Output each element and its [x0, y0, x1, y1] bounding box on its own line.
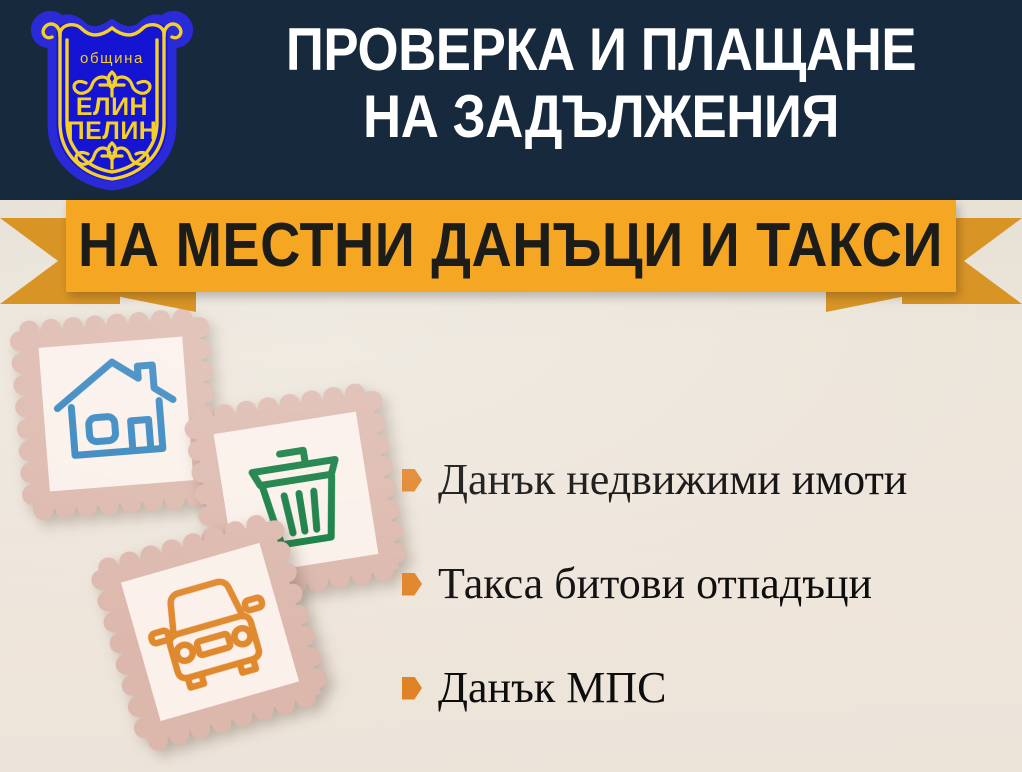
ribbon-subtitle: НА МЕСТНИ ДАНЪЦИ И ТАКСИ	[79, 215, 944, 277]
ribbon-face: НА МЕСТНИ ДАНЪЦИ И ТАКСИ	[66, 200, 956, 292]
municipality-crest-logo: община ЕЛИН ПЕЛИН	[26, 6, 198, 192]
list-item[interactable]: Такса битови отпадъци	[402, 532, 1012, 636]
list-item-label: Данък недвижими имоти	[438, 458, 907, 502]
arrow-bullet-icon	[402, 573, 422, 596]
stamp-paper	[39, 337, 194, 492]
arrow-bullet-icon	[402, 469, 422, 492]
ribbon-banner: НА МЕСТНИ ДАНЪЦИ И ТАКСИ	[0, 196, 1022, 312]
list-item[interactable]: Данък недвижими имоти	[402, 428, 1012, 532]
crest-name-line2: ПЕЛИН	[67, 117, 158, 145]
list-item[interactable]: Данък МПС	[402, 636, 1012, 740]
page-title: ПРОВЕРКА И ПЛАЩАНЕ НА ЗАДЪЛЖЕНИЯ	[245, 16, 958, 150]
header-bar: община ЕЛИН ПЕЛИН ПРОВЕРКА И ПЛАЩАНЕ НА …	[0, 0, 1022, 200]
crest-small-label: община	[80, 50, 144, 67]
list-item-label: Такса битови отпадъци	[438, 562, 872, 606]
arrow-bullet-icon	[402, 677, 422, 700]
poster-canvas: община ЕЛИН ПЕЛИН ПРОВЕРКА И ПЛАЩАНЕ НА …	[0, 0, 1022, 772]
list-item-label: Данък МПС	[438, 666, 666, 710]
tax-types-list: Данък недвижими имоти Такса битови отпад…	[402, 428, 1012, 740]
